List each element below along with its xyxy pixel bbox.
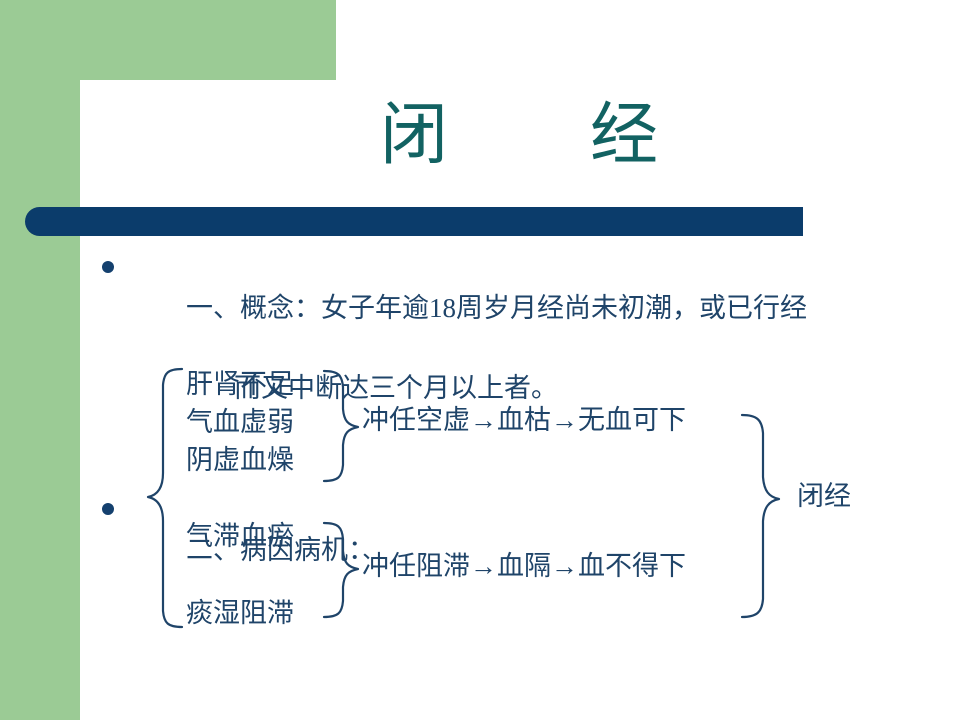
navy-divider-bar: [25, 207, 803, 236]
etiology-diagram: 肝肾不足 气血虚弱 阴虚血燥 气滞血瘀 痰湿阻滞 冲任空虚→血枯→无血可下 冲任…: [0, 355, 960, 655]
outcome-brace-icon: [742, 415, 779, 617]
slide: 闭 经 一、概念：女子年逾18周岁月经尚未初潮，或已行经 而又中断达三个月以上者…: [0, 0, 960, 720]
cause-label: 阴虚血燥: [186, 445, 294, 475]
diagram-outcome-label: 闭经: [797, 481, 851, 511]
deficiency-group-brace-icon: [324, 371, 358, 481]
cause-label: 气滞血瘀: [186, 521, 294, 551]
bullet-line-primary: 一、概念：女子年逾18周岁月经尚未初潮，或已行经: [186, 293, 807, 323]
cause-label: 肝肾不足: [186, 369, 294, 399]
green-top-band: [0, 0, 336, 80]
page-title: 闭 经: [80, 92, 960, 178]
bullet-dot-icon: [102, 261, 114, 273]
pathogenesis-chain-deficiency: 冲任空虚→血枯→无血可下: [362, 405, 686, 435]
cause-label: 痰湿阻滞: [186, 598, 294, 628]
pathogenesis-chain-stagnation: 冲任阻滞→血隔→血不得下: [362, 551, 686, 581]
cause-label: 气血虚弱: [186, 407, 294, 437]
outer-left-brace-icon: [148, 369, 182, 627]
stagnation-group-brace-icon: [324, 523, 358, 617]
